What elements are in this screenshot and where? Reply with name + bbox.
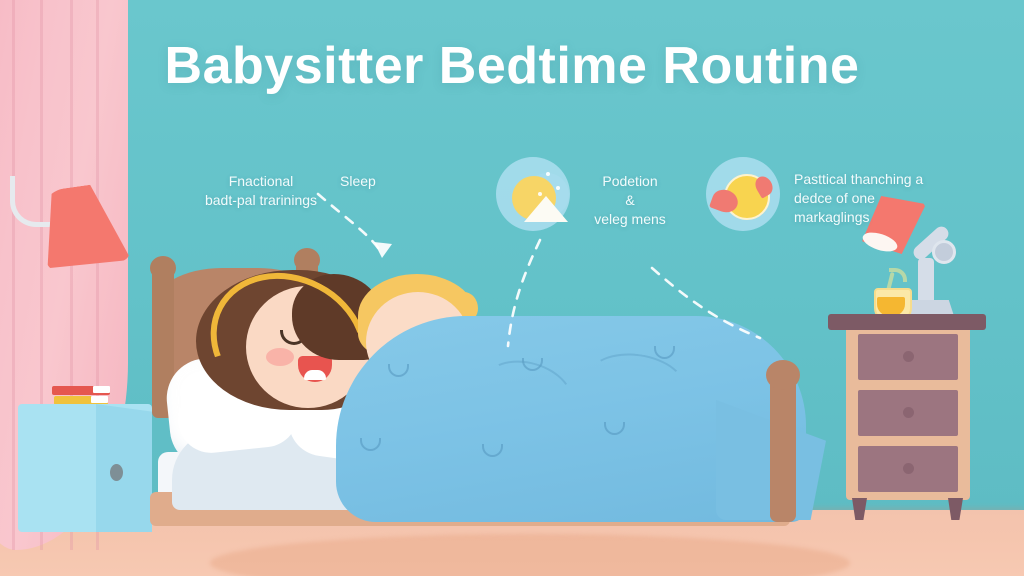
annotation-label-1: Fnactional badt-pal trarinings: [186, 172, 336, 210]
page-title: Babysitter Bedtime Routine: [0, 36, 1024, 96]
left-nightstand-knob: [110, 464, 123, 481]
blanket-motif: [360, 438, 381, 451]
bedtime-routine-illustration: Babysitter Bedtime Routine Fnactional ba…: [0, 0, 1024, 576]
desk-lamp-stem: [918, 258, 934, 306]
left-nightstand-side-panel: [96, 404, 152, 532]
drawer-knob: [903, 407, 914, 418]
bed-footpost: [770, 372, 796, 522]
stacked-books: [52, 386, 112, 406]
annotation-1-line-1: Fnactional: [186, 172, 336, 191]
desk-lamp-joint: [932, 240, 956, 264]
annotation-label-4: Pasttical thanching a dedce of one marka…: [794, 170, 964, 227]
annotation-1-line-2: badt-pal trarinings: [186, 191, 336, 210]
book-pages: [93, 386, 110, 393]
star-icon: [546, 172, 550, 176]
blanket-motif: [388, 364, 409, 377]
drawer-knob: [903, 463, 914, 474]
headboard-finial-left: [150, 256, 176, 280]
blanket-motif: [604, 422, 625, 435]
drawer-knob: [903, 351, 914, 362]
annotation-3-line-2: &: [570, 191, 690, 210]
annotation-3-line-1: Podetion: [570, 172, 690, 191]
annotation-label-3: Podetion & veleg mens: [570, 172, 690, 229]
annotation-2-line-1: Sleep: [340, 172, 410, 191]
annotation-label-2: Sleep: [340, 172, 410, 191]
blanket-motif: [654, 346, 675, 359]
right-nightstand-top: [828, 314, 986, 330]
star-icon: [538, 192, 542, 196]
annotation-3-line-3: veleg mens: [570, 210, 690, 229]
star-icon: [556, 186, 560, 190]
book-pages: [91, 396, 108, 403]
annotation-4-line-2: dedce of one: [794, 189, 964, 208]
annotation-4-line-3: markaglings: [794, 208, 964, 227]
annotation-4-line-1: Pasttical thanching a: [794, 170, 964, 189]
bed-footpost-finial: [766, 360, 800, 390]
headboard-finial-right: [294, 248, 320, 272]
book-red: [52, 386, 110, 395]
blanket-motif: [482, 444, 503, 457]
